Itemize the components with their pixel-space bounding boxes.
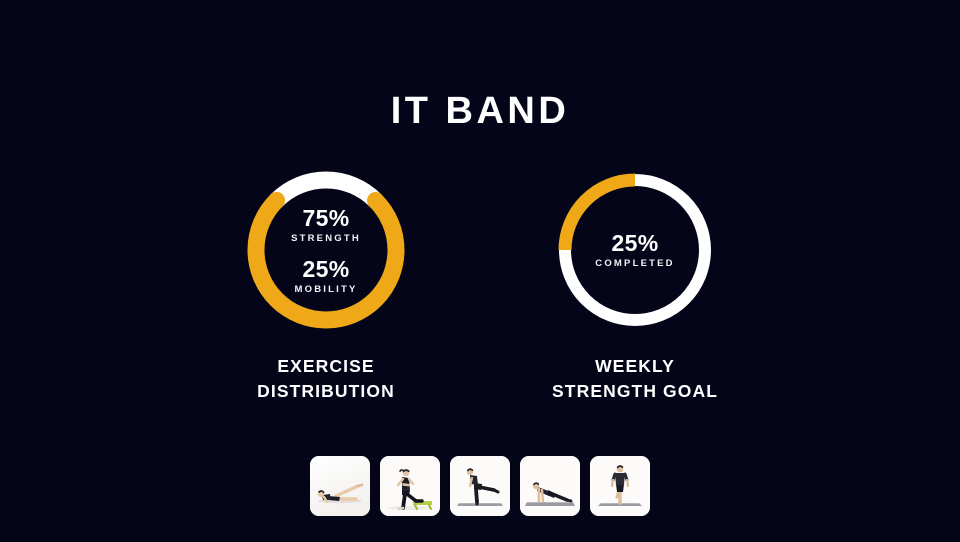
metric-card-weekly-strength-goal: 25% COMPLETED WEEKLY STRENGTH GOAL [485, 170, 785, 404]
metric-caption-line-2: STRENGTH GOAL [485, 379, 785, 404]
exercise-thumbnail-side-lying-leg-raise[interactable]: side lying leg raise [310, 456, 370, 516]
exercise-thumbnail-step-up-lunge[interactable]: step up lunge with platform [380, 456, 440, 516]
metric-caption-weekly-strength-goal: WEEKLY STRENGTH GOAL [485, 354, 785, 404]
exercise-thumbnail-single-leg-deadlift[interactable]: single leg deadlift on mat [450, 456, 510, 516]
exercise-thumbnail-strip: side lying leg raise [0, 456, 960, 522]
app-screen: IT BAND 75% STRENGTH 25% [0, 0, 960, 542]
metric-caption-line-1: EXERCISE [176, 354, 476, 379]
metric-card-exercise-distribution: 75% STRENGTH 25% MOBILITY EXERCISE DISTR… [176, 170, 476, 404]
metric-caption-exercise-distribution: EXERCISE DISTRIBUTION [176, 354, 476, 404]
page-title: IT BAND [0, 88, 960, 134]
metrics-row: 75% STRENGTH 25% MOBILITY EXERCISE DISTR… [0, 170, 960, 410]
exercise-thumbnail-single-leg-balance[interactable]: single leg balance stand [590, 456, 650, 516]
donut-chart-weekly-strength-goal: 25% COMPLETED [555, 170, 715, 330]
donut-chart-exercise-distribution: 75% STRENGTH 25% MOBILITY [246, 170, 406, 330]
metric-caption-line-1: WEEKLY [485, 354, 785, 379]
donut-value-segment [256, 180, 396, 320]
metric-caption-line-2: DISTRIBUTION [176, 379, 476, 404]
exercise-thumbnail-plank-hold[interactable]: plank hold on mat [520, 456, 580, 516]
